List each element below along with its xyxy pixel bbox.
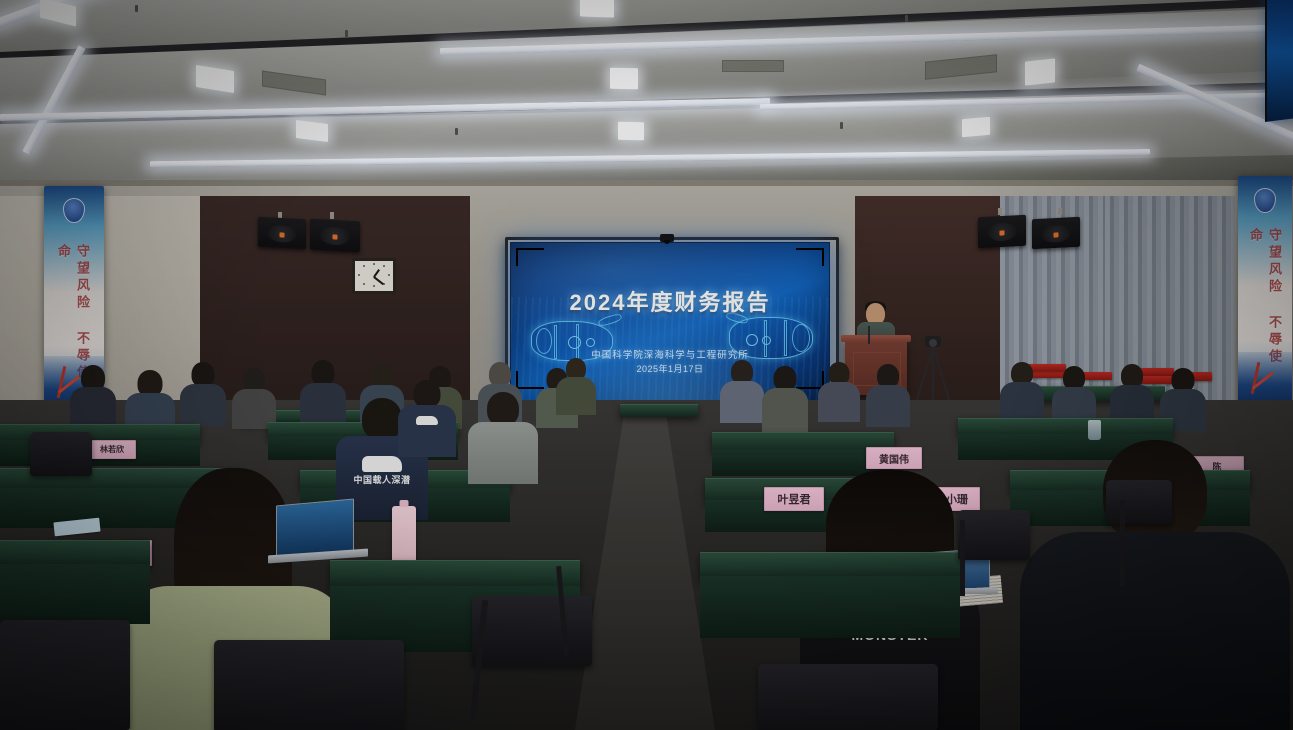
- air-vent: [722, 60, 784, 72]
- jacket-text: 中国载人深潜: [338, 476, 426, 485]
- screen-corner-decor: [516, 248, 544, 266]
- submersible-logo-icon: [416, 416, 438, 425]
- chair[interactable]: [958, 510, 1030, 560]
- jbl-logo-icon: [1054, 232, 1059, 237]
- desk-row-1: [0, 540, 150, 567]
- microphone-stand: [868, 326, 870, 344]
- attendee: [180, 362, 226, 424]
- attendee: [720, 360, 764, 420]
- ceiling-camera-icon: [660, 234, 674, 242]
- submersible-logo-icon: [362, 456, 402, 472]
- jbl-logo-icon: [280, 232, 285, 237]
- jbl-logo-icon: [333, 234, 338, 239]
- camera-tripod: [922, 336, 944, 406]
- desk-row-1: [330, 560, 580, 589]
- panel-light: [618, 122, 644, 140]
- attendee: [70, 365, 116, 425]
- name-card: 林若欣: [88, 440, 136, 459]
- chair[interactable]: [0, 620, 130, 730]
- panel-light: [296, 120, 328, 142]
- institute-emblem-icon: [1254, 188, 1276, 213]
- panel-light: [1025, 58, 1055, 85]
- sprinkler-head: [455, 128, 458, 135]
- chair[interactable]: [214, 640, 404, 730]
- attendee: [762, 366, 808, 428]
- screen-corner-decor: [796, 248, 824, 266]
- wall-speaker: [978, 215, 1026, 249]
- chair[interactable]: [472, 596, 592, 666]
- attendee: [232, 368, 276, 426]
- attendee: [1052, 366, 1096, 426]
- wall-clock: [352, 258, 396, 294]
- conference-hall-photo: 守望风险 不辱使命 守望风险 不辱使命: [0, 0, 1293, 730]
- jbl-logo-icon: [1000, 230, 1005, 235]
- laptop[interactable]: [268, 496, 368, 566]
- ceiling: [0, 0, 1293, 182]
- attendee: [556, 358, 596, 412]
- chair[interactable]: [30, 432, 92, 476]
- desk-row-1: [700, 552, 960, 579]
- wall-speaker: [310, 219, 360, 253]
- desk-row-far: [620, 404, 698, 417]
- name-card: 黄国伟: [866, 447, 922, 469]
- sprinkler-head: [135, 5, 138, 12]
- sprinkler-head: [345, 30, 348, 37]
- chair[interactable]: [758, 664, 938, 730]
- attendee: [398, 380, 456, 454]
- attendee: [468, 392, 538, 482]
- attendee: [1000, 362, 1044, 420]
- institute-emblem-icon: [63, 198, 85, 223]
- attendee: [1110, 364, 1154, 424]
- panel-light: [962, 117, 990, 137]
- slide-title: 2024年度财务报告: [511, 285, 829, 317]
- attendee: [125, 370, 175, 432]
- chair[interactable]: [1106, 480, 1172, 524]
- banner-footer-art: [1238, 352, 1292, 404]
- wall-speaker: [1032, 217, 1080, 250]
- panel-light: [610, 68, 638, 89]
- corner-monitor: [1265, 0, 1293, 122]
- panel-light: [580, 0, 614, 18]
- sprinkler-head: [840, 122, 843, 129]
- attendee: [866, 364, 910, 424]
- attendee: [818, 362, 860, 420]
- water-glass: [1088, 420, 1101, 440]
- banner-right: 守望风险 不辱使命: [1238, 176, 1292, 404]
- sprinkler-head: [905, 15, 908, 22]
- wall-speaker: [258, 217, 306, 250]
